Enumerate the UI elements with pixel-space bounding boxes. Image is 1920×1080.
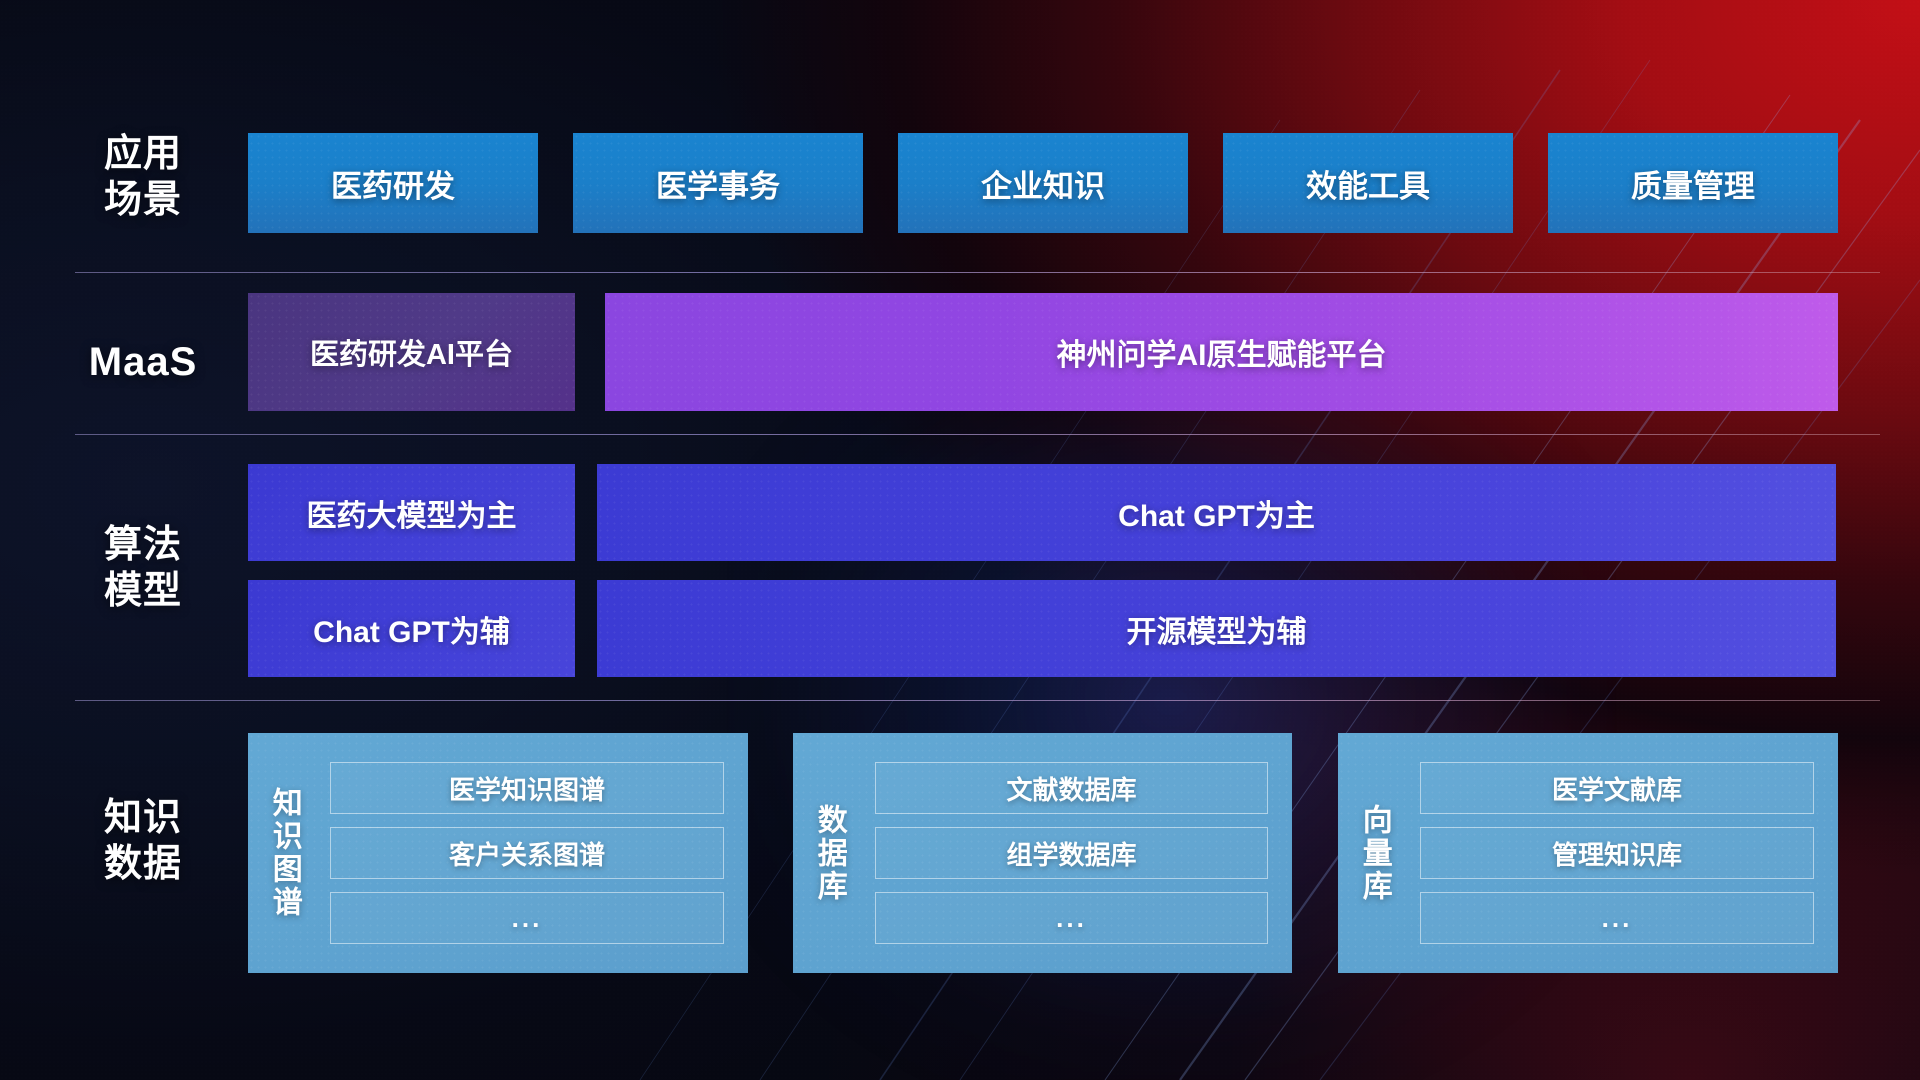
knowledge-item-more[interactable]: ... (1420, 892, 1814, 944)
app-box-efficiency-tools[interactable]: 效能工具 (1223, 133, 1513, 233)
knowledge-item-label: 组学数据库 (1006, 835, 1136, 872)
knowledge-group-items: 医学知识图谱 客户关系图谱 ... (320, 733, 748, 973)
row-label-knowledge: 知识 数据 (75, 795, 211, 888)
divider-maas-algorithm (75, 434, 1880, 435)
algo-box-label: Chat GPT为主 (1118, 491, 1315, 535)
knowledge-item[interactable]: 文献数据库 (875, 762, 1268, 814)
maas-box-label: 医药研发AI平台 (310, 331, 513, 373)
app-box-label: 效能工具 (1306, 161, 1430, 206)
algo-box-chatgpt-primary[interactable]: Chat GPT为主 (597, 464, 1836, 561)
maas-box-medicine-ai-platform[interactable]: 医药研发AI平台 (248, 293, 575, 411)
knowledge-item-label: ... (1056, 903, 1087, 934)
knowledge-item-label: 医学知识图谱 (449, 770, 605, 807)
algo-box-chatgpt-secondary[interactable]: Chat GPT为辅 (248, 580, 575, 677)
knowledge-group-knowledge-graph[interactable]: 知识图谱 医学知识图谱 客户关系图谱 ... (248, 733, 748, 973)
knowledge-item[interactable]: 组学数据库 (875, 827, 1268, 879)
knowledge-group-label: 向量库 (1338, 733, 1410, 973)
knowledge-group-label: 知识图谱 (248, 733, 320, 973)
algo-box-medicine-llm-primary[interactable]: 医药大模型为主 (248, 464, 575, 561)
knowledge-group-vector-database[interactable]: 向量库 医学文献库 管理知识库 ... (1338, 733, 1838, 973)
app-box-medical-affairs[interactable]: 医学事务 (573, 133, 863, 233)
knowledge-item-more[interactable]: ... (330, 892, 724, 944)
app-box-label: 质量管理 (1631, 161, 1755, 206)
row-label-algorithm: 算法 模型 (75, 522, 211, 615)
knowledge-item-label: 客户关系图谱 (449, 835, 605, 872)
algo-box-label: Chat GPT为辅 (313, 607, 510, 651)
row-label-maas: MaaS (75, 338, 211, 387)
knowledge-group-items: 文献数据库 组学数据库 ... (865, 733, 1292, 973)
divider-application-maas (75, 272, 1880, 273)
divider-algorithm-knowledge (75, 700, 1880, 701)
app-box-medicine-rd[interactable]: 医药研发 (248, 133, 538, 233)
app-box-quality-management[interactable]: 质量管理 (1548, 133, 1838, 233)
maas-box-shenzhou-wenxue-platform[interactable]: 神州问学AI原生赋能平台 (605, 293, 1838, 411)
knowledge-item-label: 医学文献库 (1552, 770, 1682, 807)
algo-box-label: 医药大模型为主 (307, 491, 517, 535)
knowledge-item[interactable]: 医学文献库 (1420, 762, 1814, 814)
architecture-diagram: 应用 场景 医药研发 医学事务 企业知识 效能工具 质量管理 MaaS 医药研发… (0, 0, 1920, 1080)
knowledge-item[interactable]: 医学知识图谱 (330, 762, 724, 814)
knowledge-item[interactable]: 客户关系图谱 (330, 827, 724, 879)
knowledge-group-database[interactable]: 数据库 文献数据库 组学数据库 ... (793, 733, 1292, 973)
knowledge-item-label: 管理知识库 (1552, 835, 1682, 872)
app-box-label: 医药研发 (331, 161, 455, 206)
app-box-enterprise-knowledge[interactable]: 企业知识 (898, 133, 1188, 233)
knowledge-group-label: 数据库 (793, 733, 865, 973)
algo-box-opensource-secondary[interactable]: 开源模型为辅 (597, 580, 1836, 677)
algo-box-label: 开源模型为辅 (1127, 607, 1307, 651)
knowledge-item[interactable]: 管理知识库 (1420, 827, 1814, 879)
app-box-label: 企业知识 (981, 161, 1105, 206)
knowledge-item-label: ... (1602, 903, 1633, 934)
knowledge-item-label: ... (512, 903, 543, 934)
knowledge-group-items: 医学文献库 管理知识库 ... (1410, 733, 1838, 973)
knowledge-item-label: 文献数据库 (1006, 770, 1136, 807)
app-box-label: 医学事务 (656, 161, 780, 206)
knowledge-item-more[interactable]: ... (875, 892, 1268, 944)
maas-box-label: 神州问学AI原生赋能平台 (1057, 330, 1387, 374)
row-label-application: 应用 场景 (75, 131, 211, 224)
